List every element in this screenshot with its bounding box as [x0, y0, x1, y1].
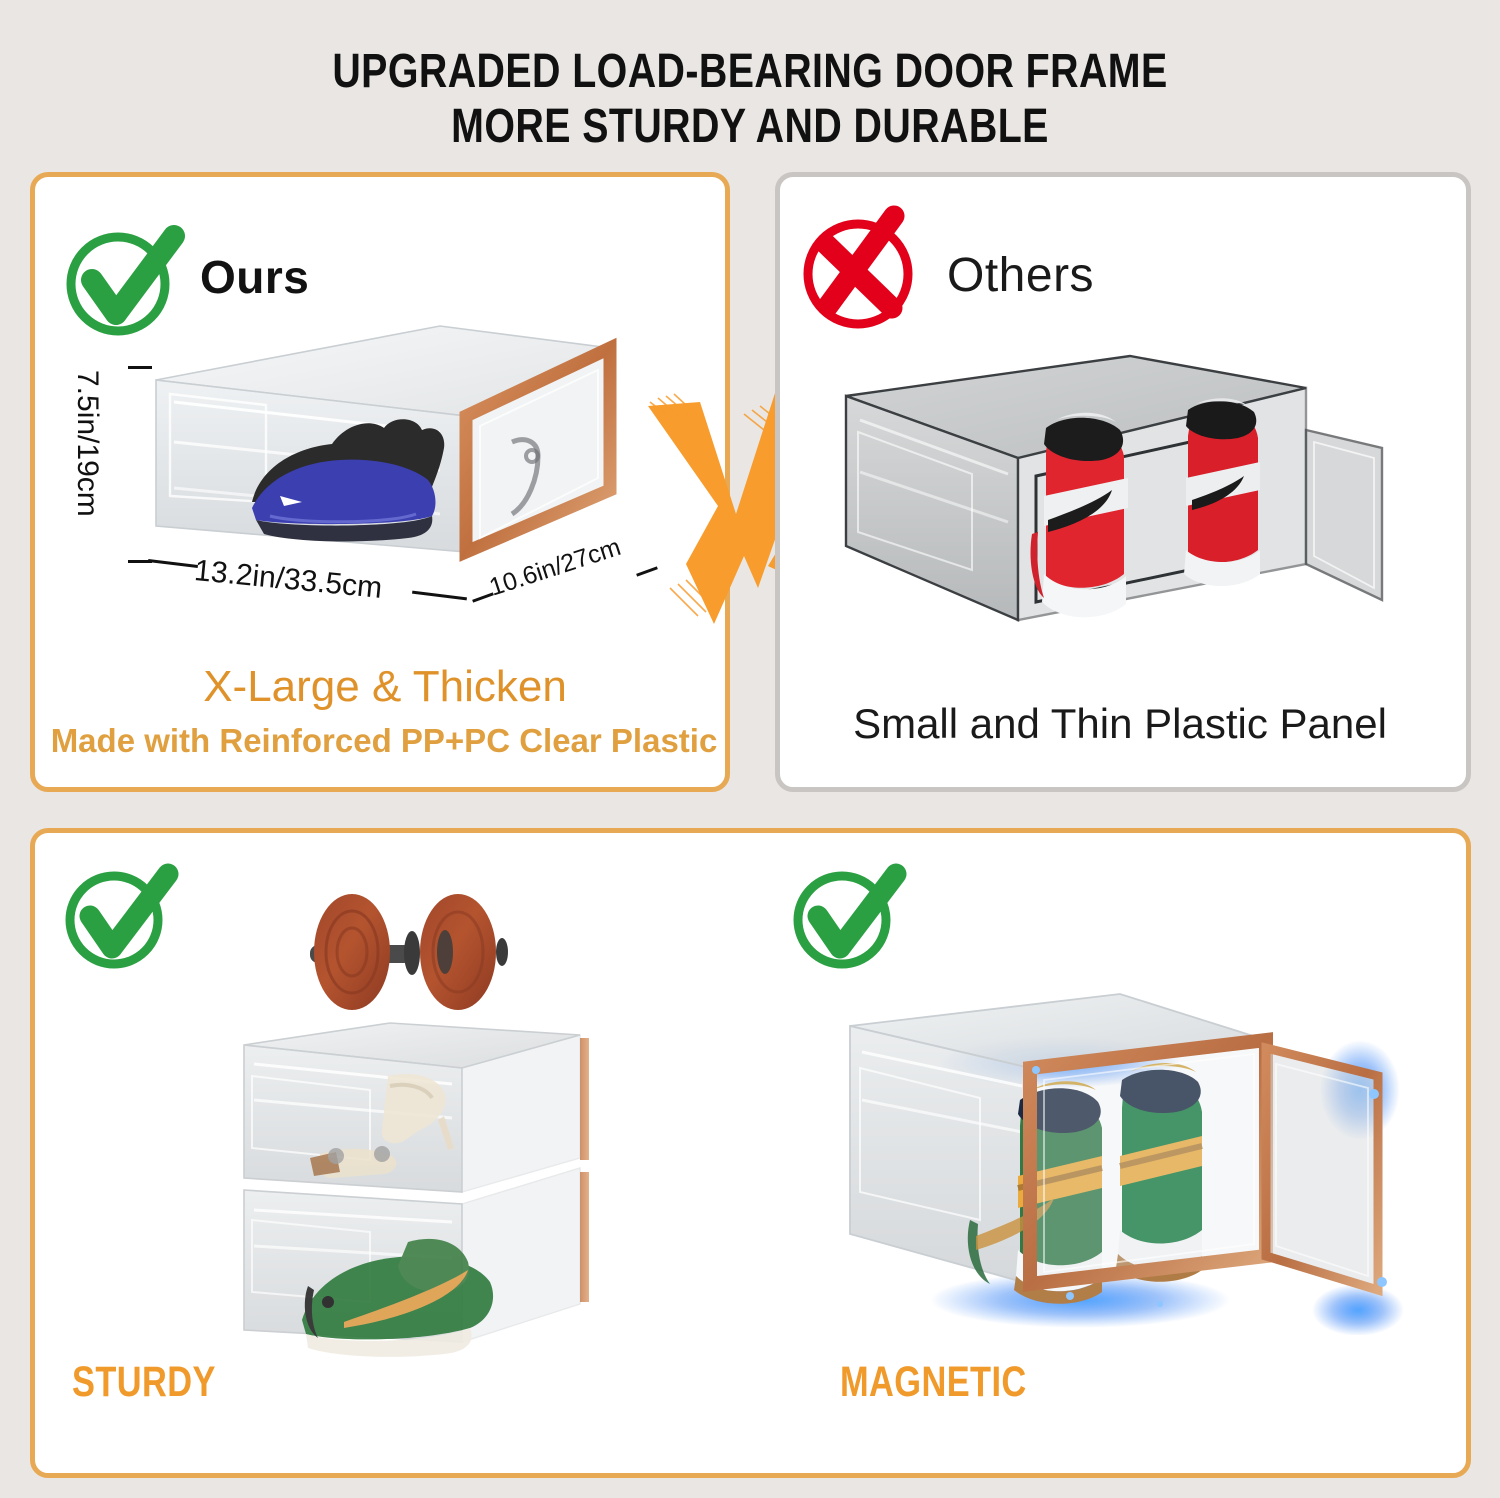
feature-label-magnetic: MAGNETIC	[840, 1358, 1027, 1407]
green-check-circle-icon-sturdy	[62, 862, 174, 974]
infographic-page: UPGRADED LOAD-BEARING DOOR FRAME MORE ST…	[0, 0, 1500, 1498]
page-title: UPGRADED LOAD-BEARING DOOR FRAME MORE ST…	[0, 44, 1500, 154]
caption-others: Small and Thin Plastic Panel	[800, 700, 1440, 748]
label-others: Others	[947, 248, 1094, 303]
product-image-others	[840, 350, 1415, 650]
green-check-circle-icon-magnetic	[790, 862, 902, 974]
caption-ours-sub: Made with Reinforced PP+PC Clear Plastic	[34, 722, 734, 760]
dimension-label-height: 7.5in/19cm	[70, 370, 104, 517]
product-image-magnetic	[830, 990, 1415, 1335]
label-ours: Ours	[200, 250, 309, 304]
caption-ours-main: X-Large & Thicken	[40, 662, 730, 712]
page-title-line-1: UPGRADED LOAD-BEARING DOOR FRAME	[135, 44, 1365, 99]
red-x-circle-icon	[800, 210, 926, 336]
feature-label-sturdy: STURDY	[72, 1358, 216, 1407]
product-image-sturdy	[240, 890, 640, 1370]
dimension-tick-height-top	[128, 366, 152, 369]
page-title-line-2: MORE STURDY AND DURABLE	[135, 99, 1365, 154]
